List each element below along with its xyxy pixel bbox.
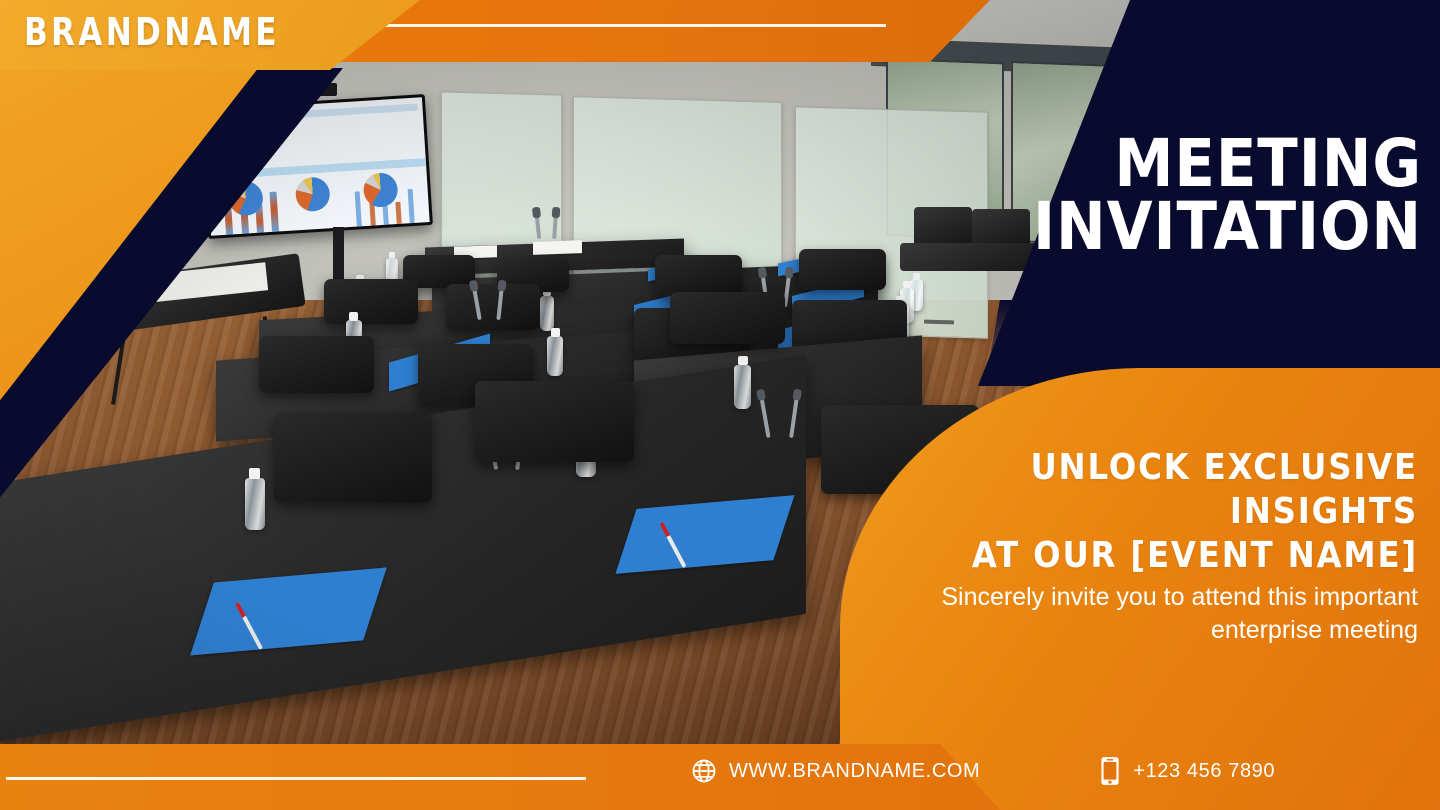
headline: UNLOCK EXCLUSIVE INSIGHTS AT OUR [EVENT … (894, 446, 1418, 578)
top-accent-line (312, 24, 886, 27)
subtitle: Sincerely invite you to attend this impo… (798, 581, 1418, 647)
bottom-accent-line (6, 777, 586, 780)
subtitle-line2: enterprise meeting (798, 614, 1418, 647)
page-title: MEETING INVITATION (1008, 132, 1422, 259)
invitation-poster: BRANDNAME MEETING INVITATION UNLOCK EXCL… (0, 0, 1440, 810)
globe-icon (690, 757, 718, 785)
headline-line2: AT OUR [EVENT NAME] (894, 534, 1418, 578)
subtitle-line1: Sincerely invite you to attend this impo… (798, 581, 1418, 614)
website-text: WWW.BRANDNAME.COM (729, 760, 980, 783)
headline-line1: UNLOCK EXCLUSIVE INSIGHTS (894, 446, 1418, 534)
website-contact[interactable]: WWW.BRANDNAME.COM (690, 757, 980, 785)
phone-contact[interactable]: +123 456 7890 (1098, 756, 1275, 786)
phone-icon (1098, 756, 1122, 786)
page-title-line1: MEETING (1008, 132, 1422, 195)
page-title-line2: INVITATION (1008, 195, 1422, 258)
brand-logo-text: BRANDNAME (24, 10, 280, 54)
phone-text: +123 456 7890 (1133, 760, 1275, 783)
footer-contacts: WWW.BRANDNAME.COM +123 456 7890 (690, 748, 1430, 794)
